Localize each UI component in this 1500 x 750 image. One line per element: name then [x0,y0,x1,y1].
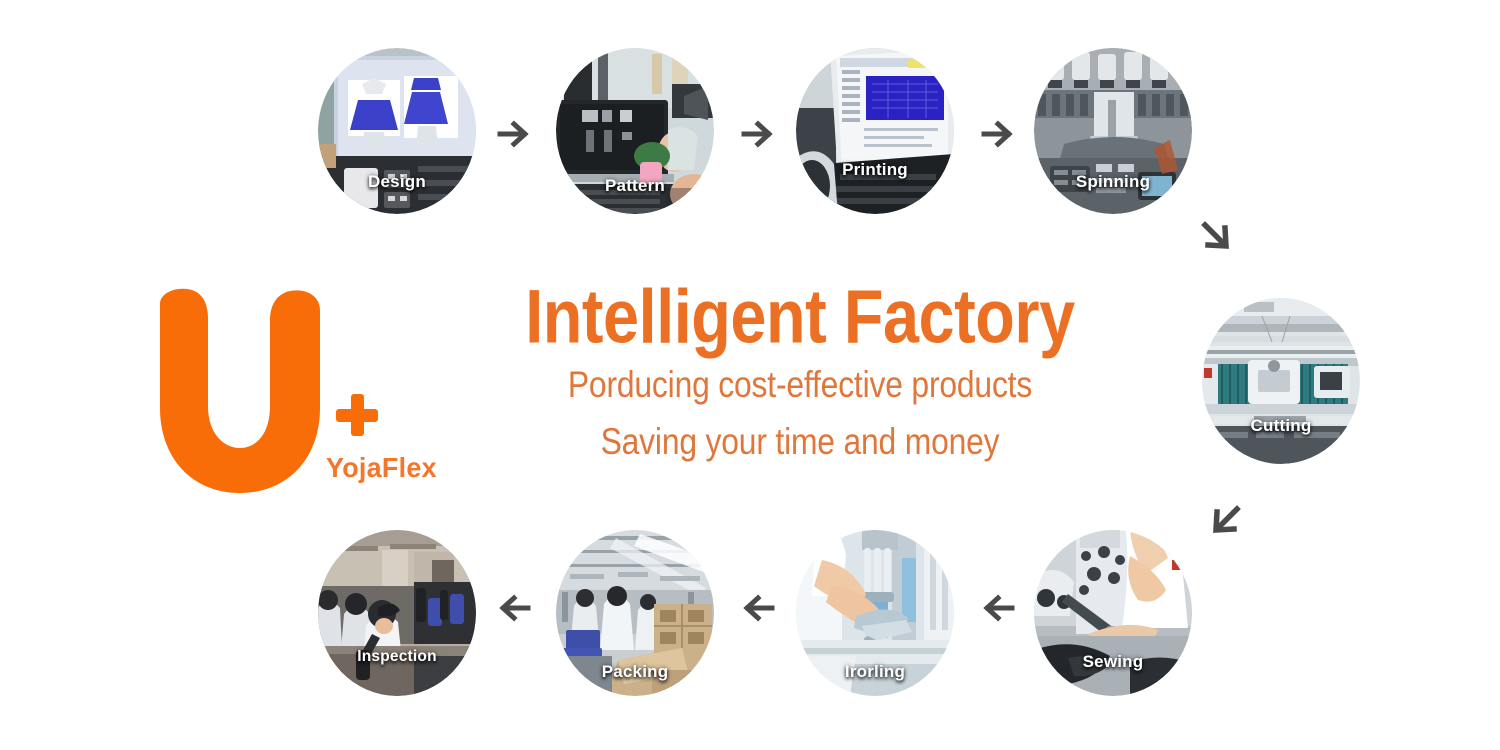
arrow-left-icon [978,588,1018,628]
process-label-printing: Printing [796,160,954,180]
process-node-irorling[interactable]: Irorling [796,530,954,696]
process-label-irorling: Irorling [796,662,954,682]
process-node-inspection[interactable]: Inspection [318,530,476,696]
process-photo-cutting [1202,298,1360,464]
infographic-canvas: Design [0,0,1500,750]
process-photo-printing [796,48,954,214]
arrow-left-icon [494,588,534,628]
process-node-spinning[interactable]: Spinning [1034,48,1192,214]
process-node-cutting[interactable]: Cutting [1202,298,1360,464]
arrow-down-left-icon [1206,500,1246,540]
process-label-packing: Packing [556,662,714,682]
process-label-spinning: Spinning [1034,172,1192,192]
process-label-cutting: Cutting [1202,416,1360,436]
process-label-design: Design [318,172,476,192]
page-title: Intelligent Factory [467,278,1133,356]
process-node-design[interactable]: Design [318,48,476,214]
process-label-pattern: Pattern [556,176,714,196]
subtitle-line-2: Saving your time and money [482,417,1118,466]
process-node-sewing[interactable]: Sewing [1034,530,1192,696]
plus-icon [336,394,378,436]
arrow-right-icon [738,114,778,154]
arrow-right-icon [494,114,534,154]
process-photo-inspection [318,530,476,696]
process-node-packing[interactable]: Packing [556,530,714,696]
arrow-right-icon [978,114,1018,154]
arrow-left-icon [738,588,778,628]
process-label-inspection: Inspection [318,648,476,666]
process-node-pattern[interactable]: Pattern [556,48,714,214]
subtitle-line-1: Porducing cost-effective products [482,360,1118,409]
process-label-sewing: Sewing [1034,652,1192,672]
u-logo-icon [148,288,328,493]
brand-name: YojaFlex [326,452,437,484]
arrow-down-right-icon [1196,216,1236,256]
headline-block: Intelligent Factory Porducing cost-effec… [430,278,1170,466]
process-node-printing[interactable]: Printing [796,48,954,214]
